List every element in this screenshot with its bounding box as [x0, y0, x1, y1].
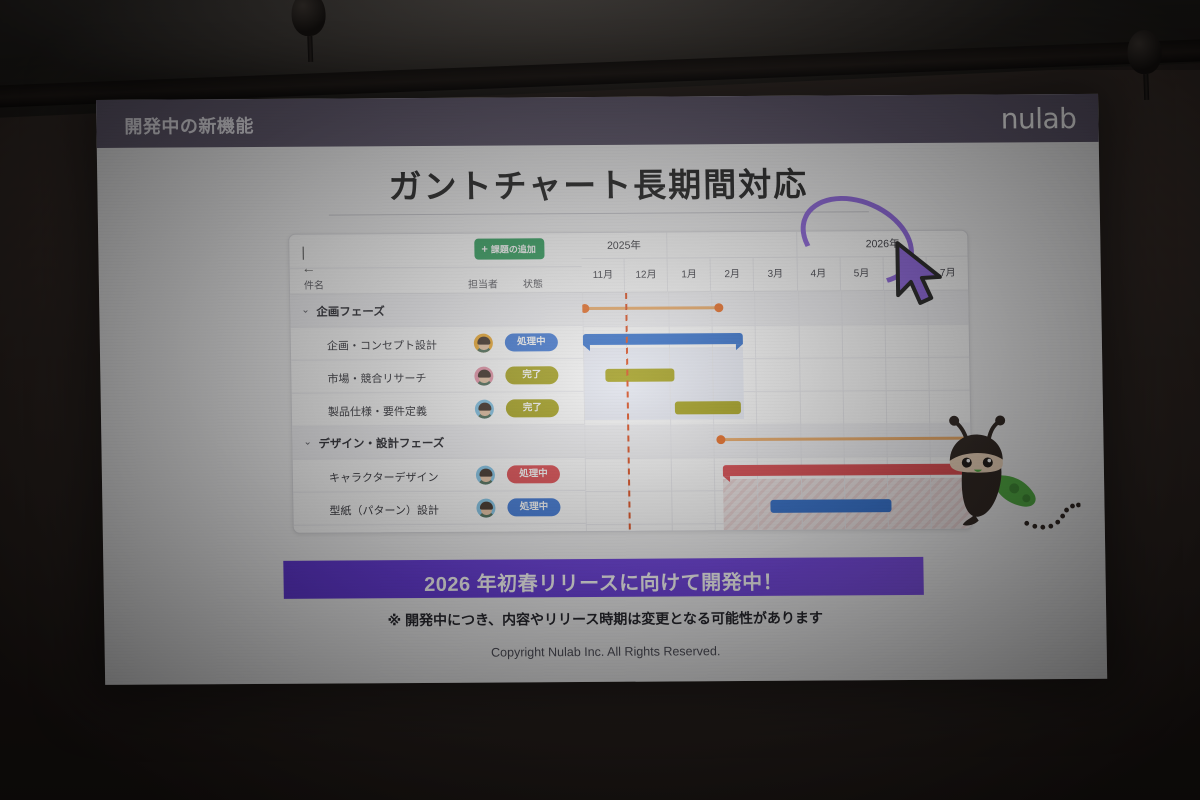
gantt-task-bar[interactable] — [771, 499, 892, 513]
nulab-logo: nulab — [1000, 102, 1076, 135]
timeline-year-cell — [667, 232, 797, 259]
gantt-parent-bar[interactable] — [583, 333, 743, 351]
task-name-label: キャラクターデザイン — [329, 469, 439, 486]
gantt-task-bar[interactable] — [605, 368, 674, 381]
avatar[interactable] — [476, 466, 495, 485]
nulab-mascot-icon — [939, 414, 1081, 550]
slide-header-bar: 開発中の新機能 nulab — [96, 94, 1099, 148]
mouse-cursor-icon — [893, 241, 958, 311]
column-header-assignee: 担当者 — [468, 276, 498, 291]
column-header-name: 件名 — [304, 277, 324, 292]
add-issue-label: 課題の追加 — [491, 244, 536, 254]
summary-milestone-dot — [716, 435, 725, 444]
task-name-label: 製品仕様・要件定義 — [328, 403, 427, 420]
group-name-label: 企画フェーズ — [316, 303, 385, 319]
room-photo: 開発中の新機能 nulab ガントチャート長期間対応 |← +課題の追加 件名 — [0, 0, 1200, 800]
timeline-month-cell[interactable]: 2月 — [711, 258, 755, 292]
status-badge[interactable]: 処理中 — [505, 333, 558, 351]
slide: 開発中の新機能 nulab ガントチャート長期間対応 |← +課題の追加 件名 — [96, 94, 1107, 685]
timeline-year-cell: 2025年 — [581, 233, 668, 260]
gantt-toolbar: |← +課題の追加 — [289, 233, 582, 269]
task-name-label: 市場・競合リサーチ — [327, 370, 426, 387]
page-title: ガントチャート長期間対応 — [97, 156, 1100, 210]
copyright-text: Copyright Nulab Inc. All Rights Reserved… — [105, 642, 1107, 662]
plus-icon: + — [481, 244, 488, 256]
gantt-left-pane: |← +課題の追加 件名 担当者 状態 ⌄企画フェーズ企画・コンセプト設計処理中… — [289, 233, 586, 533]
gantt-group-row[interactable]: ⌄企画フェーズ — [290, 293, 583, 328]
task-name-label: 型紙（パターン）設計 — [329, 502, 439, 519]
gantt-column-headers: 件名 担当者 状態 — [290, 267, 582, 295]
gantt-task-row[interactable]: 市場・競合リサーチ完了 — [291, 359, 584, 394]
timeline-month-cell[interactable]: 3月 — [754, 258, 798, 292]
release-banner: 2026 年初春リリースに向けて開発中！ — [283, 557, 924, 599]
slide-header-title: 開発中の新機能 — [124, 112, 254, 139]
title-divider — [329, 211, 869, 215]
group-name-label: デザイン・設計フェーズ — [318, 435, 444, 452]
avatar[interactable] — [474, 367, 493, 386]
spotlight-icon — [291, 0, 327, 63]
task-name-label: 企画・コンセプト設計 — [327, 337, 437, 354]
avatar[interactable] — [475, 400, 494, 419]
chevron-down-icon[interactable]: ⌄ — [303, 438, 313, 448]
projection-screen: 開発中の新機能 nulab ガントチャート長期間対応 |← +課題の追加 件名 — [96, 94, 1107, 685]
release-banner-text: 2026 年初春リリースに向けて開発中！ — [283, 565, 923, 598]
disclaimer-note: ※ 開発中につき、内容やリリース時期は変更となる可能性があります — [104, 606, 1106, 632]
spotlight-icon — [1127, 29, 1163, 100]
status-badge[interactable]: 完了 — [506, 399, 559, 417]
gantt-parent-bar[interactable] — [723, 464, 972, 483]
gantt-task-row[interactable]: 企画・コンセプト設計処理中 — [291, 326, 584, 361]
gantt-task-row[interactable]: 型紙（パターン）設計処理中 — [293, 491, 586, 526]
timeline-month-cell[interactable]: 1月 — [668, 258, 712, 292]
collapse-left-icon[interactable]: |← — [301, 244, 317, 260]
summary-milestone-dot — [714, 303, 723, 312]
chevron-down-icon[interactable]: ⌄ — [301, 306, 311, 316]
gantt-task-row[interactable]: 製品仕様・要件定義完了 — [292, 392, 585, 427]
status-badge[interactable]: 完了 — [505, 366, 558, 384]
gantt-group-row[interactable]: ⌄デザイン・設計フェーズ — [292, 425, 585, 460]
avatar[interactable] — [474, 334, 493, 353]
timeline-month-cell[interactable]: 11月 — [582, 259, 626, 293]
status-badge[interactable]: 処理中 — [507, 498, 560, 516]
avatar[interactable] — [476, 499, 495, 518]
column-header-status: 状態 — [523, 275, 543, 290]
gantt-task-bar[interactable] — [674, 401, 741, 414]
gantt-task-row[interactable]: キャラクターデザイン処理中 — [293, 458, 586, 493]
timeline-month-cell[interactable]: 12月 — [625, 259, 669, 293]
status-badge[interactable]: 処理中 — [507, 465, 560, 483]
add-issue-button[interactable]: +課題の追加 — [474, 238, 545, 259]
